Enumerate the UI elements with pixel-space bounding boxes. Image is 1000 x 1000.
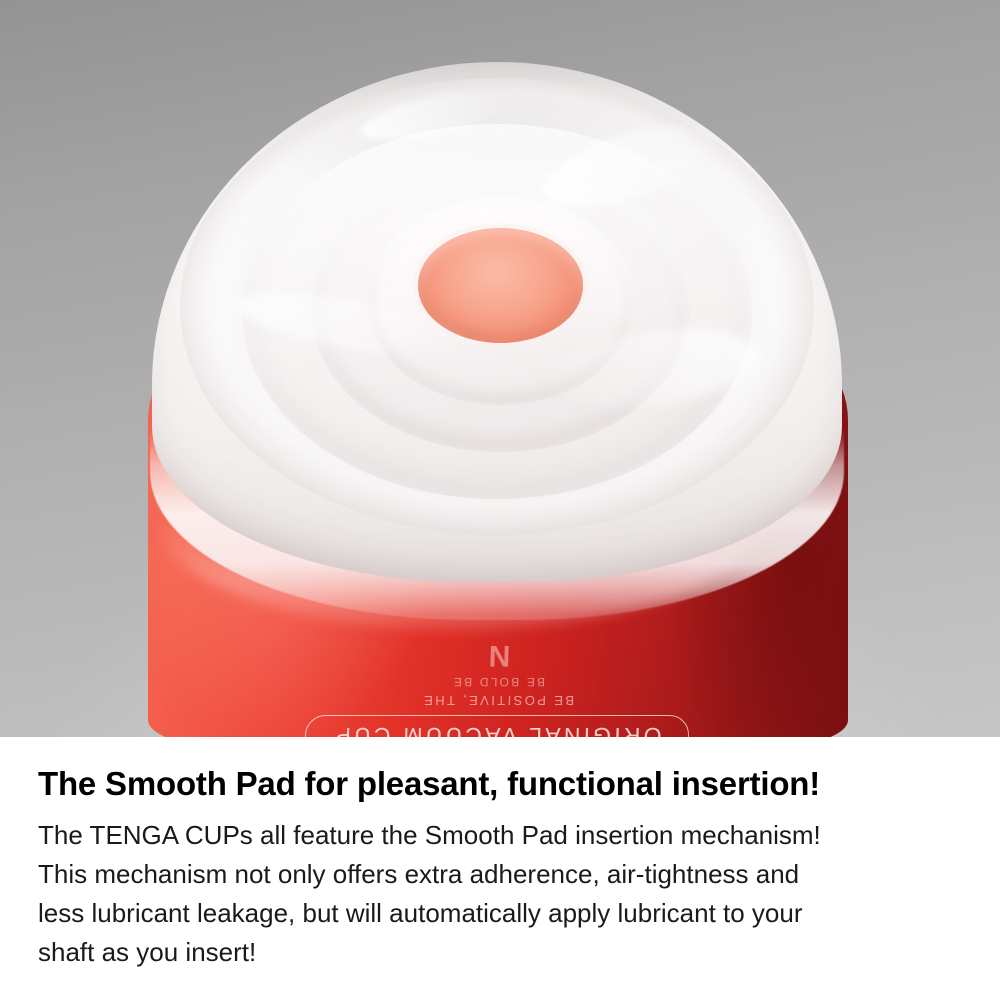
pad-highlight-upper-right bbox=[533, 109, 723, 224]
body-line-1: The TENGA CUPs all feature the Smooth Pa… bbox=[38, 816, 968, 855]
pad-orifice bbox=[418, 228, 584, 342]
body-paragraph: The TENGA CUPs all feature the Smooth Pa… bbox=[38, 816, 968, 972]
headline: The Smooth Pad for pleasant, functional … bbox=[38, 765, 820, 803]
product-photo: ORIGINAL VACUUM CUP BE POSITIVE, THE BE … bbox=[0, 0, 1000, 737]
body-line-2: This mechanism not only offers extra adh… bbox=[38, 855, 968, 894]
product-feature-page: ORIGINAL VACUUM CUP BE POSITIVE, THE BE … bbox=[0, 0, 1000, 1000]
pad-highlight-upper-left bbox=[357, 83, 513, 150]
caption-panel: The Smooth Pad for pleasant, functional … bbox=[0, 737, 1000, 1000]
body-line-3: less lubricant leakage, but will automat… bbox=[38, 894, 968, 933]
body-line-4: shaft as you insert! bbox=[38, 933, 968, 972]
pad-highlight-lower-right bbox=[548, 318, 763, 419]
